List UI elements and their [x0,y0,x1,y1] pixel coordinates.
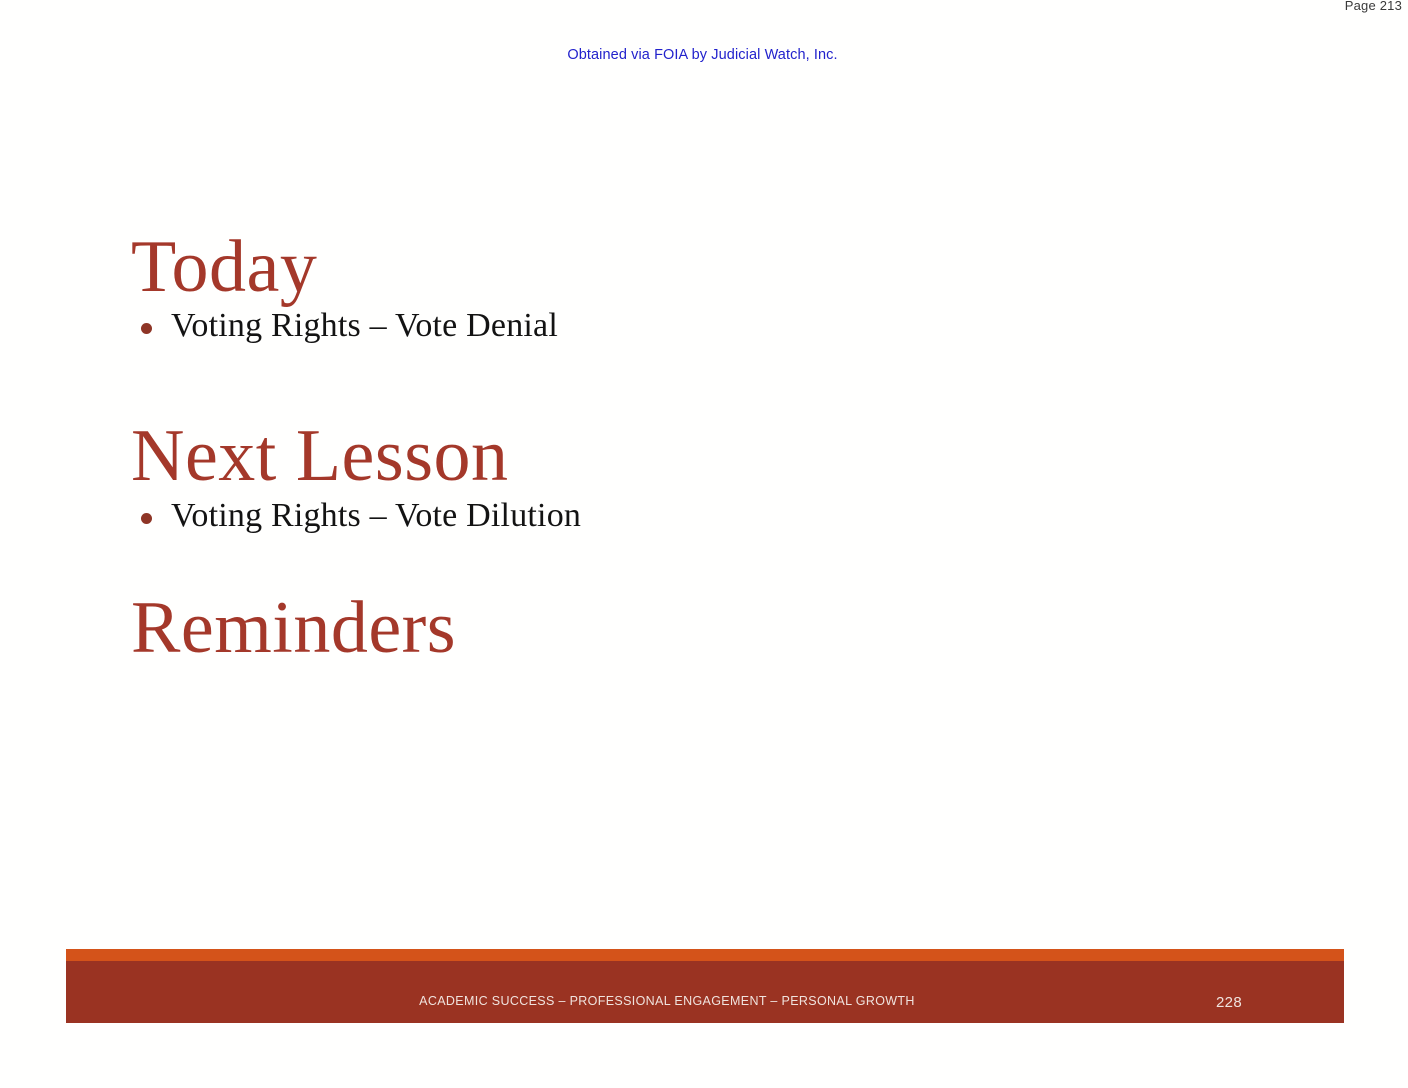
list-item-label: Voting Rights – Vote Denial [171,307,558,344]
section-next-lesson: Next Lesson Voting Rights – Vote Dilutio… [131,421,1261,535]
list-item-label: Voting Rights – Vote Dilution [171,497,581,534]
section-today: Today Voting Rights – Vote Denial [131,232,1261,346]
foia-notice-text: Obtained via FOIA by Judicial Watch, Inc… [567,47,837,63]
heading-reminders: Reminders [131,593,1261,663]
slide-footer: ACADEMIC SUCCESS – PROFESSIONAL ENGAGEME… [66,949,1344,1023]
slide-canvas: Page 213 Obtained via FOIA by Judicial W… [0,0,1408,1088]
spacer [131,346,1261,421]
bullet-list-next-lesson: Voting Rights – Vote Dilution [131,496,1261,536]
list-item: Voting Rights – Vote Dilution [131,496,1261,536]
heading-next-lesson: Next Lesson [131,421,1261,491]
footer-accent-bar [66,949,1344,961]
heading-today: Today [131,232,1261,302]
foia-notice: Obtained via FOIA by Judicial Watch, Inc… [0,47,1408,63]
bullet-dot-icon [141,323,152,334]
footer-page-number: 228 [1114,994,1344,1011]
list-item: Voting Rights – Vote Denial [131,306,1261,346]
slide-body: Today Voting Rights – Vote Denial Next L… [131,232,1261,663]
footer-band: ACADEMIC SUCCESS – PROFESSIONAL ENGAGEME… [66,961,1344,1023]
scan-page-stamp: Page 213 [1345,0,1402,13]
section-reminders: Reminders [131,593,1261,663]
spacer [131,536,1261,593]
bullet-list-today: Voting Rights – Vote Denial [131,306,1261,346]
bullet-dot-icon [141,513,152,524]
